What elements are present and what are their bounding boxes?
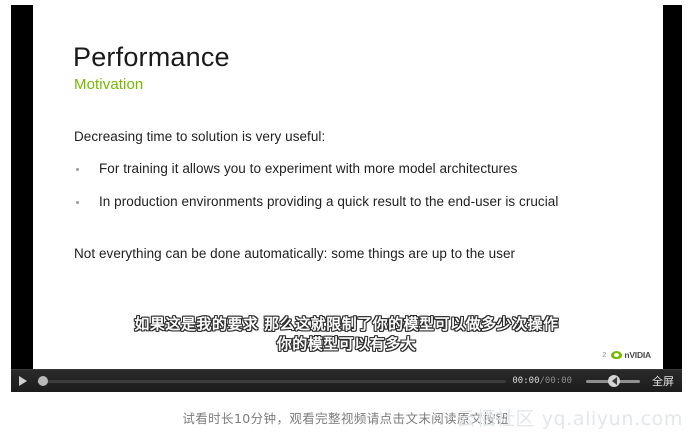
video-player[interactable]: Performance Motivation Decreasing time t…	[11, 5, 682, 392]
closing-paragraph: Not everything can be done automatically…	[74, 246, 515, 261]
list-item-label: In production environments providing a q…	[99, 194, 558, 209]
lead-paragraph: Decreasing time to solution is very usef…	[74, 129, 325, 144]
progress-scrubber[interactable]	[37, 370, 506, 392]
volume-knob[interactable]	[608, 375, 620, 387]
time-display: 00:00/00:00	[512, 376, 572, 386]
list-item-label: For training it allows you to experiment…	[99, 161, 517, 176]
page-title: Performance	[73, 43, 230, 71]
list-item: For training it allows you to experiment…	[74, 161, 634, 177]
bullet-list: For training it allows you to experiment…	[74, 161, 634, 226]
volume-slider[interactable]	[582, 370, 644, 392]
list-item: In production environments providing a q…	[74, 194, 634, 210]
current-time: 00:00	[512, 376, 539, 386]
progress-knob[interactable]	[38, 376, 48, 386]
speaker-icon	[612, 377, 617, 385]
progress-track[interactable]	[37, 380, 506, 383]
player-control-bar[interactable]: 00:00/00:00 全屏	[11, 369, 682, 392]
subtitle-line-2: 你的模型可以有多大	[11, 335, 682, 355]
burned-in-subtitles: 如果这是我的要求 那么这就限制了你的模型可以做多少次操作 你的模型可以有多大	[11, 315, 682, 355]
trial-notice-caption: 试看时长10分钟，观看完整视频请点击文末阅读原文按钮	[0, 408, 691, 427]
total-time: 00:00	[545, 376, 572, 386]
bullet-dot-icon	[76, 168, 79, 171]
bullet-dot-icon	[76, 201, 79, 204]
play-button[interactable]	[11, 370, 33, 392]
play-icon	[19, 376, 27, 386]
page-subtitle: Motivation	[74, 76, 143, 93]
subtitle-line-1: 如果这是我的要求 那么这就限制了你的模型可以做多少次操作	[11, 315, 682, 335]
fullscreen-button[interactable]: 全屏	[652, 373, 682, 389]
